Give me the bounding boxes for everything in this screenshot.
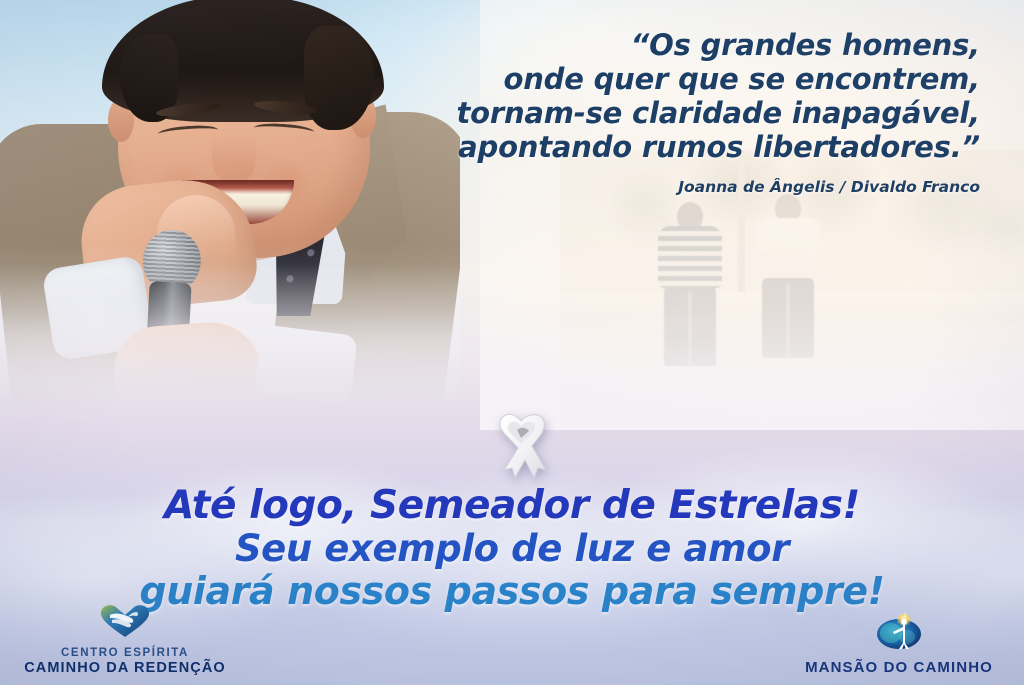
quote-line-3: tornam-se claridade inapagável,	[360, 96, 980, 130]
white-memorial-ribbon-icon	[484, 408, 558, 486]
headline-block: Até logo, Semeador de Estrelas! Seu exem…	[0, 484, 1024, 613]
logo-mansao-do-caminho: MANSÃO DO CAMINHO	[784, 611, 1014, 677]
quote-attribution: Joanna de Ângelis / Divaldo Franco	[360, 178, 980, 196]
globe-figure-light-logo-icon	[784, 611, 1014, 656]
quote-line-2: onde quer que se encontrem,	[360, 62, 980, 96]
logo-left-line-1: CENTRO ESPÍRITA	[18, 647, 232, 660]
quote-line-4: apontando rumos libertadores.”	[360, 130, 980, 164]
tribute-banner: “Os grandes homens, onde quer que se enc…	[0, 0, 1024, 685]
heart-hands-logo-icon	[18, 603, 232, 644]
headline-line-1: Até logo, Semeador de Estrelas!	[0, 484, 1024, 528]
quote-block: “Os grandes homens, onde quer que se enc…	[360, 28, 980, 196]
hair	[102, 0, 384, 122]
logo-right-line-1: MANSÃO DO CAMINHO	[784, 659, 1014, 677]
logo-centro-espirita-caminho-da-redencao: CENTRO ESPÍRITA CAMINHO DA REDENÇÃO	[18, 603, 232, 677]
logo-left-line-2: CAMINHO DA REDENÇÃO	[18, 660, 232, 677]
nose	[212, 136, 256, 184]
quote-line-1: “Os grandes homens,	[360, 28, 980, 62]
headline-line-2: Seu exemplo de luz e amor	[0, 528, 1024, 570]
